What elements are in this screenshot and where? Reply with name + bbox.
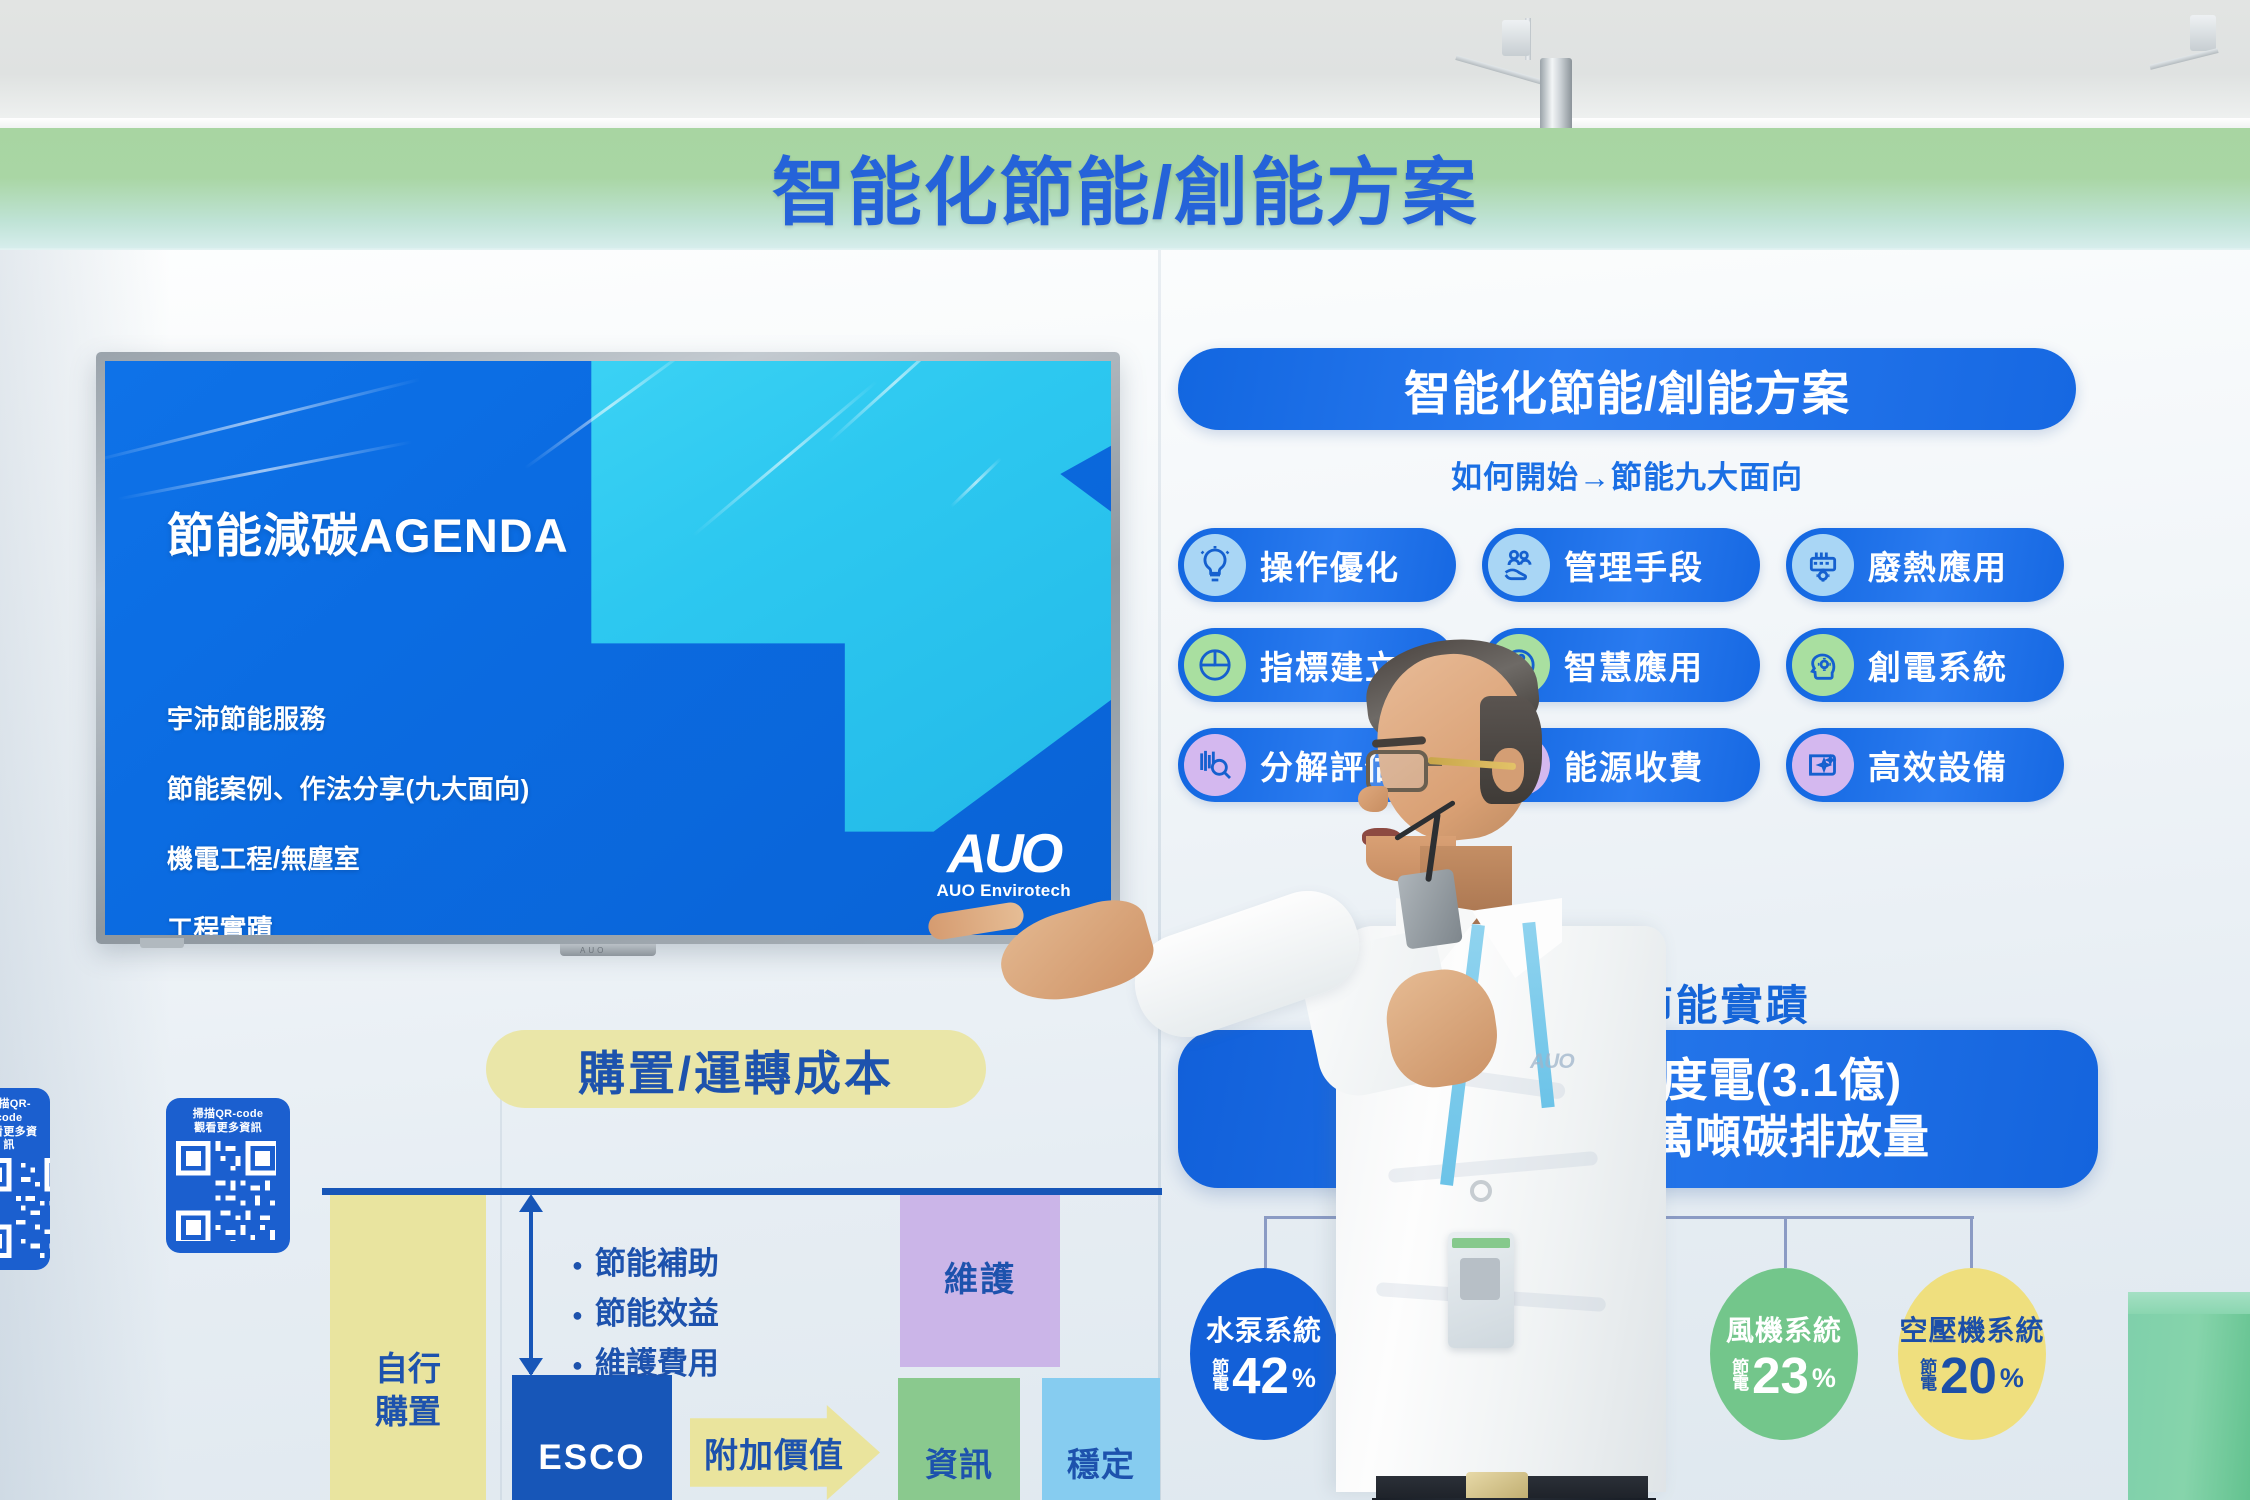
chart-label-maintenance: 維護 xyxy=(900,1252,1060,1301)
wall-seam-lower xyxy=(500,1080,502,1500)
stat-prefix: 節電 xyxy=(1212,1360,1229,1392)
magnifier-icon xyxy=(1184,734,1246,796)
auo-logo: AUO AUO Envirotech xyxy=(936,827,1071,901)
chart-arrow-down-icon xyxy=(519,1358,543,1376)
display-pedestal xyxy=(2128,1292,2250,1500)
slide-bullet: 宇沛節能服務 xyxy=(167,699,530,736)
added-value-label: 附加價值 xyxy=(704,1428,844,1477)
chart-top-axis xyxy=(322,1188,1162,1195)
ceiling xyxy=(0,0,2250,135)
connector-line xyxy=(1784,1216,1787,1268)
stat-symbol: % xyxy=(1812,1363,1836,1394)
stat-bubble-fan: 風機系統 節電 23 % xyxy=(1710,1268,1858,1440)
stat-value: 20 xyxy=(1940,1353,1997,1399)
spotlight-bracket-right xyxy=(2190,15,2216,51)
stat-system-name: 風機系統 xyxy=(1726,1309,1842,1349)
qr-caption-line1: 掃描QR-code xyxy=(0,1098,31,1124)
auo-logo-mark: AUO xyxy=(936,827,1071,879)
exhibition-scene: 智能化節能/創能方案 節能減碳AGENDA 宇沛節能服務 節能案例、作法分享(九… xyxy=(0,0,2250,1500)
belt-buckle xyxy=(1466,1472,1528,1500)
stat-system-name: 空壓機系統 xyxy=(1899,1309,2044,1349)
pill-label: 廢熱應用 xyxy=(1868,541,2008,589)
qr-code-image xyxy=(0,1158,50,1258)
chart-label-esco: ESCO xyxy=(512,1438,672,1478)
pill-label: 操作優化 xyxy=(1260,541,1400,589)
qr-caption: 掃描QR-code 觀看更多資訊 xyxy=(0,1098,40,1153)
cost-section-title-text: 購置/運轉成本 xyxy=(578,1035,894,1104)
slide-bullet: 工程實蹟 xyxy=(167,909,530,935)
presenter-ear xyxy=(1492,748,1524,792)
chart-annotation: 節能補助 xyxy=(572,1238,719,1283)
slide-title: 節能減碳AGENDA xyxy=(167,497,569,566)
pill-operation-optimization[interactable]: 操作優化 xyxy=(1178,528,1456,602)
device-spark-icon xyxy=(1792,734,1854,796)
pill-power-generation-system[interactable]: 創電系統 xyxy=(1786,628,2064,702)
shirt-logo: AUO xyxy=(1530,1050,1574,1074)
venue-banner-title: 智能化節能/創能方案 xyxy=(690,140,1560,232)
cost-section-title: 購置/運轉成本 xyxy=(486,1030,986,1108)
panel-header-text: 智能化節能/創能方案 xyxy=(1404,355,1850,424)
chart-label-stability: 穩定 xyxy=(1042,1438,1160,1486)
chart-label-self-purchase: 自行購置 xyxy=(330,1348,486,1434)
presenter-nose xyxy=(1358,786,1388,812)
stat-value-row: 節電 20 % xyxy=(1920,1353,2024,1399)
chart-delta-arrow-line xyxy=(529,1198,533,1374)
chart-arrow-up-icon xyxy=(519,1194,543,1212)
id-badge-strip xyxy=(1452,1238,1510,1248)
qr-caption: 掃描QR-code 觀看更多資訊 xyxy=(176,1108,280,1136)
factory-gear-icon xyxy=(1792,534,1854,596)
panel-subheader: 如何開始→節能九大面向 xyxy=(1178,452,2076,497)
slide-streak xyxy=(117,440,412,500)
slide-bullet-list: 宇沛節能服務 節能案例、作法分享(九大面向) 機電工程/無塵室 工程實蹟 xyxy=(167,699,530,935)
spotlight-neck xyxy=(1540,58,1572,138)
lightbulb-icon xyxy=(1184,534,1246,596)
slide-canvas: 節能減碳AGENDA 宇沛節能服務 節能案例、作法分享(九大面向) 機電工程/無… xyxy=(105,361,1111,935)
chart-annotation: 維護費用 xyxy=(572,1338,719,1383)
qr-caption-line2: 觀看更多資訊 xyxy=(194,1122,262,1134)
display-pedestal-top xyxy=(2128,1292,2250,1314)
id-badge-photo xyxy=(1460,1258,1500,1300)
display-mount-left xyxy=(140,938,184,948)
connector-line xyxy=(1264,1216,1267,1268)
stat-value-row: 節電 23 % xyxy=(1732,1353,1836,1399)
qr-card-right[interactable]: 掃描QR-code 觀看更多資訊 xyxy=(166,1098,290,1253)
pill-management-methods[interactable]: 管理手段 xyxy=(1482,528,1760,602)
pill-label: 高效設備 xyxy=(1868,741,2008,789)
lanyard-ring xyxy=(1470,1180,1492,1202)
qr-card-left[interactable]: 掃描QR-code 觀看更多資訊 xyxy=(0,1088,50,1270)
stat-prefix: 節電 xyxy=(1732,1360,1749,1392)
people-hand-icon xyxy=(1488,534,1550,596)
stat-bubble-air-compressor: 空壓機系統 節電 20 % xyxy=(1898,1268,2046,1440)
pill-row: 操作優化 管理手段 xyxy=(1178,528,2088,602)
pill-label: 管理手段 xyxy=(1564,541,1704,589)
wall-seam xyxy=(1158,250,1161,1500)
slide-bullet: 節能案例、作法分享(九大面向) xyxy=(167,769,530,806)
spotlight-bracket xyxy=(1502,20,1530,56)
presenter: AUO xyxy=(1280,640,1710,1500)
slide-bullet: 機電工程/無塵室 xyxy=(167,839,530,876)
pill-waste-heat-application[interactable]: 廢熱應用 xyxy=(1786,528,2064,602)
qr-code-image xyxy=(176,1141,276,1241)
stat-prefix: 節電 xyxy=(1920,1360,1937,1392)
stat-symbol: % xyxy=(2000,1363,2024,1394)
chart-annotation: 節能效益 xyxy=(572,1288,719,1333)
presentation-display[interactable]: 節能減碳AGENDA 宇沛節能服務 節能案例、作法分享(九大面向) 機電工程/無… xyxy=(96,352,1120,944)
pill-label: 創電系統 xyxy=(1868,641,2008,689)
connector-line xyxy=(1970,1216,1973,1268)
qr-caption-line2: 觀看更多資訊 xyxy=(0,1126,37,1152)
pill-high-efficiency-equipment[interactable]: 高效設備 xyxy=(1786,728,2064,802)
head-gear-icon xyxy=(1792,634,1854,696)
display-stand-label: AUO xyxy=(580,946,606,955)
panel-header: 智能化節能/創能方案 xyxy=(1178,348,2076,430)
pie-chart-icon xyxy=(1184,634,1246,696)
stat-value: 23 xyxy=(1752,1353,1809,1399)
chart-label-information: 資訊 xyxy=(898,1438,1020,1486)
qr-caption-line1: 掃描QR-code xyxy=(193,1108,264,1120)
display-stand xyxy=(560,944,656,956)
auo-logo-subtitle: AUO Envirotech xyxy=(936,881,1071,901)
